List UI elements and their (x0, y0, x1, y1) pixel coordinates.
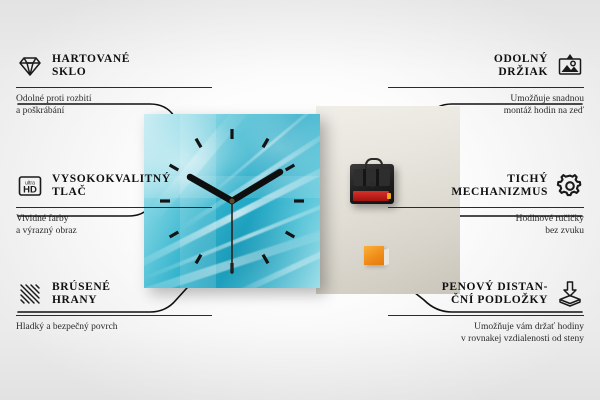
battery (353, 191, 389, 201)
pad-stack-arrow-icon (556, 280, 584, 308)
feature-ground-edges: BRÚSENÉ HRANY Hladký a bezpečný povrch (16, 276, 212, 333)
feature-description: Hodinové ručičky bez zvuku (388, 213, 584, 237)
feature-high-quality-print: ultra HD VYSOKOKVALITNÝ TLAČ Vividné far… (16, 168, 212, 237)
feature-title: HARTOVANÉ SKLO (52, 53, 130, 80)
feature-header: PENOVÝ DISTAN- ČNÍ PODLOŽKY (388, 276, 584, 312)
divider (16, 315, 212, 316)
feature-description: Umožňuje vám držať hodiny v rovnakej vzd… (388, 321, 584, 345)
hour-mark (263, 255, 268, 264)
feature-title: ODOLNÝ DRŽIAK (494, 53, 548, 80)
mechanism-shaft (370, 182, 375, 187)
gear-icon (556, 172, 584, 200)
feature-foam-spacer-pads: PENOVÝ DISTAN- ČNÍ PODLOŽKY Umožňuje vám… (388, 276, 584, 345)
feature-description: Vividné farby a výrazný obraz (16, 213, 212, 237)
divider (16, 207, 212, 208)
infographic-canvas: HARTOVANÉ SKLO Odolné proti rozbití a po… (0, 0, 600, 400)
feature-header: BRÚSENÉ HRANY (16, 276, 212, 312)
divider (388, 315, 584, 316)
feature-title: VYSOKOKVALITNÝ TLAČ (52, 173, 171, 200)
hour-mark (196, 139, 201, 148)
minute-hand (232, 172, 280, 201)
feature-description: Odolné proti rozbití a poškrábání (16, 93, 212, 117)
feature-description: Umožňuje snadnou montáž hodin na zeď (388, 93, 584, 117)
feature-header: ODOLNÝ DRŽIAK (388, 48, 584, 84)
feature-title: PENOVÝ DISTAN- ČNÍ PODLOŽKY (442, 281, 548, 308)
hanging-picture-icon (556, 52, 584, 80)
divider (16, 87, 212, 88)
divider (388, 207, 584, 208)
feature-title: TICHÝ MECHANIZMUS (451, 173, 548, 200)
feature-header: ultra HD VYSOKOKVALITNÝ TLAČ (16, 168, 212, 204)
feature-tempered-glass: HARTOVANÉ SKLO Odolné proti rozbití a po… (16, 48, 212, 117)
feature-title: BRÚSENÉ HRANY (52, 281, 111, 308)
diagonal-lines-icon (16, 280, 44, 308)
feature-header: HARTOVANÉ SKLO (16, 48, 212, 84)
feature-description: Hladký a bezpečný povrch (16, 321, 212, 333)
hands-hub (229, 198, 234, 203)
mechanism-hanger-hook (365, 158, 383, 169)
feature-silent-mechanism: TICHÝ MECHANIZMUS Hodinové ručičky bez z… (388, 168, 584, 237)
divider (388, 87, 584, 88)
feature-header: TICHÝ MECHANIZMUS (388, 168, 584, 204)
hour-mark (286, 232, 295, 237)
hour-mark (286, 165, 295, 170)
svg-text:HD: HD (23, 185, 37, 196)
hour-mark (263, 139, 268, 148)
hour-mark (196, 255, 201, 264)
foam-spacer-pad (364, 246, 384, 265)
diamond-icon (16, 52, 44, 80)
ultra-hd-icon: ultra HD (16, 172, 44, 200)
feature-durable-holder: ODOLNÝ DRŽIAK Umožňuje snadnou montáž ho… (388, 48, 584, 117)
